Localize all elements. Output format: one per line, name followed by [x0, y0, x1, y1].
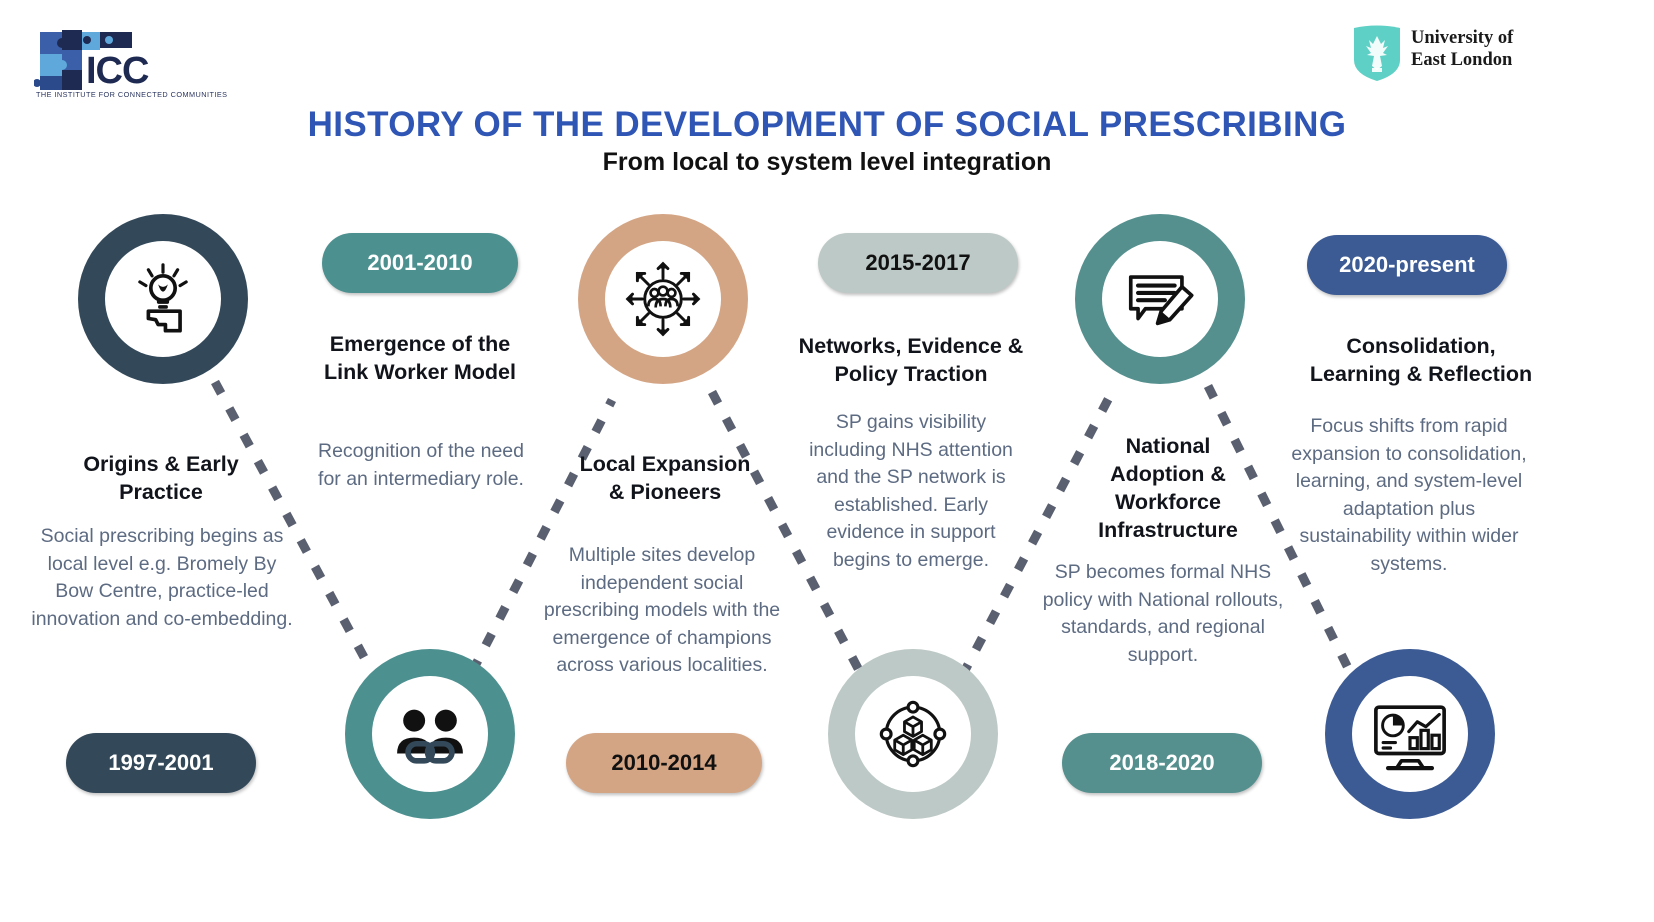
- group-expansion-arrows-icon: [624, 260, 702, 338]
- heading-national-adoption: NationalAdoption &WorkforceInfrastructur…: [1068, 432, 1268, 544]
- pin-consolidation[interactable]: [1325, 649, 1495, 849]
- date-pill-2010-2014[interactable]: 2010-2014: [566, 733, 762, 793]
- head-lightbulb-icon: [124, 260, 202, 338]
- body-local-expansion: Multiple sites develop independent socia…: [538, 542, 786, 680]
- heading-link-worker: Emergence of theLink Worker Model: [300, 330, 540, 386]
- pin-origins[interactable]: [78, 214, 248, 414]
- pin-inner: [1102, 241, 1218, 357]
- date-pill-2001-2010[interactable]: 2001-2010: [322, 233, 518, 293]
- pin-inner: [1352, 676, 1468, 792]
- pin-national-adoption[interactable]: [1075, 214, 1245, 414]
- people-chain-link-icon: [391, 695, 469, 773]
- pin-inner: [372, 676, 488, 792]
- network-cubes-icon: [874, 695, 952, 773]
- pin-networks-evidence[interactable]: [828, 649, 998, 849]
- date-pill-1997-2001[interactable]: 1997-2001: [66, 733, 256, 793]
- pin-inner: [605, 241, 721, 357]
- body-link-worker: Recognition of the need for an intermedi…: [310, 438, 532, 493]
- body-national-adoption: SP becomes formal NHS policy with Nation…: [1032, 559, 1294, 669]
- pin-inner: [855, 676, 971, 792]
- pin-inner: [105, 241, 221, 357]
- body-consolidation: Focus shifts from rapid expansion to con…: [1290, 413, 1528, 578]
- heading-consolidation: Consolidation,Learning & Reflection: [1290, 332, 1552, 388]
- dashboard-analytics-icon: [1371, 695, 1449, 773]
- pin-link-worker[interactable]: [345, 649, 515, 849]
- date-pill-2015-2017[interactable]: 2015-2017: [818, 233, 1018, 293]
- date-pill-2018-2020[interactable]: 2018-2020: [1062, 733, 1262, 793]
- document-pencil-icon: [1121, 260, 1199, 338]
- body-networks-evidence: SP gains visibility including NHS attent…: [800, 409, 1022, 574]
- pin-local-expansion[interactable]: [578, 214, 748, 414]
- heading-networks-evidence: Networks, Evidence &Policy Traction: [775, 332, 1047, 388]
- body-origins: Social prescribing begins as local level…: [26, 523, 298, 633]
- heading-local-expansion: Local Expansion& Pioneers: [540, 450, 790, 506]
- heading-origins: Origins & EarlyPractice: [36, 450, 286, 506]
- date-pill-2020-present[interactable]: 2020-present: [1307, 235, 1507, 295]
